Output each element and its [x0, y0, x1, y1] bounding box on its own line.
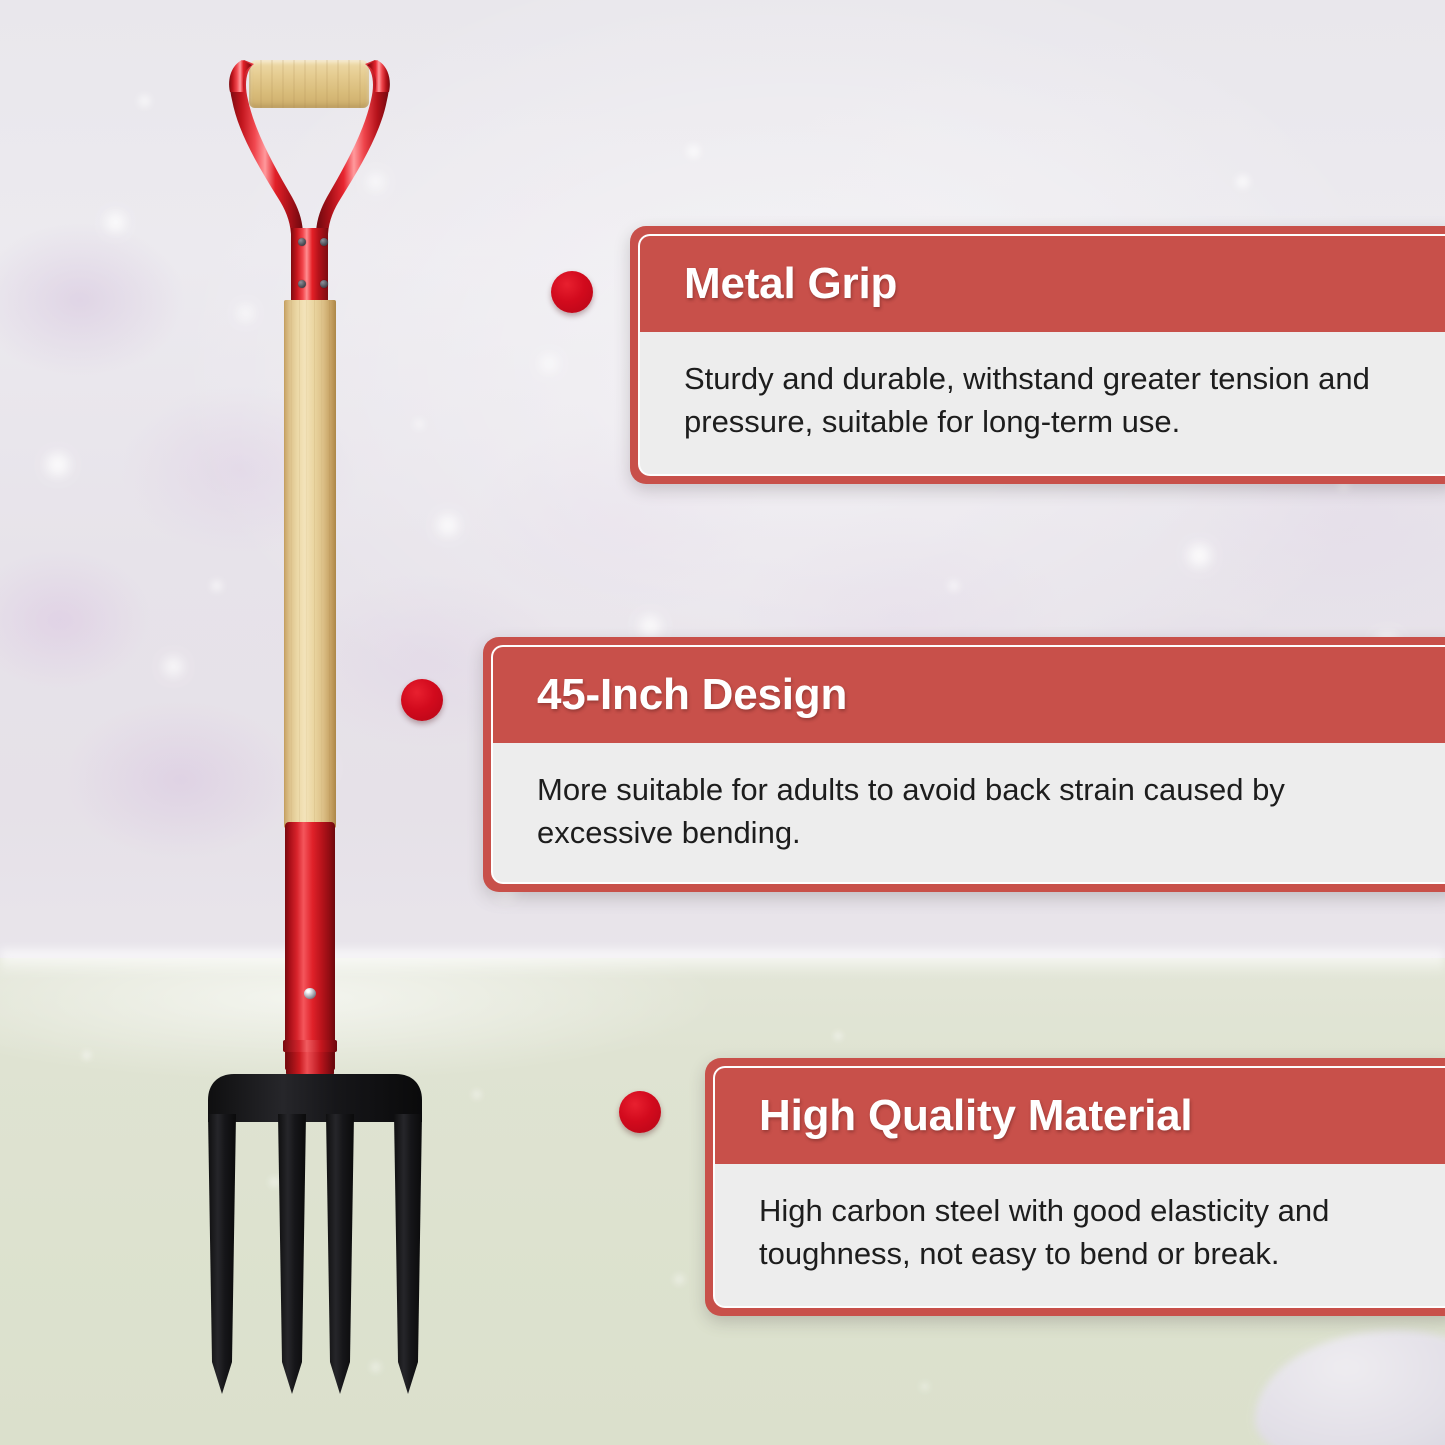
socket-rivet-bottom-right — [320, 280, 328, 288]
ferrule-lip-upper — [283, 1040, 337, 1052]
socket-rivet-top-left — [298, 238, 306, 246]
socket-rivet-top-right — [320, 238, 328, 246]
feature-title: Metal Grip — [684, 259, 897, 309]
ferrule-rivet — [304, 988, 316, 999]
fork-tine-4 — [394, 1114, 422, 1394]
fork-head — [190, 1062, 440, 1432]
socket-rivet-bottom-left — [298, 280, 306, 288]
feature-description: High carbon steel with good elasticity a… — [715, 1164, 1445, 1276]
fork-tine-3 — [326, 1114, 354, 1394]
feature-card-inner: High Quality Material High carbon steel … — [713, 1066, 1445, 1308]
feature-card-metal-grip[interactable]: Metal Grip Sturdy and durable, withstand… — [630, 226, 1445, 484]
fork-tine-2 — [278, 1114, 306, 1394]
feature-title: 45-Inch Design — [537, 670, 847, 720]
bullet-dot-high-quality-material — [619, 1091, 661, 1133]
fork-tine-1 — [208, 1114, 236, 1394]
fork-crossbar — [208, 1074, 422, 1122]
feature-description: Sturdy and durable, withstand greater te… — [640, 332, 1445, 444]
feature-title: High Quality Material — [759, 1091, 1192, 1141]
feature-card-45-inch-design[interactable]: 45-Inch Design More suitable for adults … — [483, 637, 1445, 892]
bullet-dot-metal-grip — [551, 271, 593, 313]
feature-card-header: 45-Inch Design — [493, 647, 1445, 743]
feature-card-inner: Metal Grip Sturdy and durable, withstand… — [638, 234, 1445, 476]
y-frame-right-collar — [367, 60, 390, 92]
infographic-canvas: Metal Grip Sturdy and durable, withstand… — [0, 0, 1445, 1445]
y-frame-left-collar — [229, 60, 252, 92]
wooden-shaft — [284, 300, 336, 828]
feature-card-inner: 45-Inch Design More suitable for adults … — [491, 645, 1445, 884]
feature-description: More suitable for adults to avoid back s… — [493, 743, 1445, 855]
red-ferrule — [285, 822, 335, 1070]
feature-card-header: Metal Grip — [640, 236, 1445, 332]
bullet-dot-45-inch-design — [401, 679, 443, 721]
feature-card-header: High Quality Material — [715, 1068, 1445, 1164]
feature-card-high-quality-material[interactable]: High Quality Material High carbon steel … — [705, 1058, 1445, 1316]
